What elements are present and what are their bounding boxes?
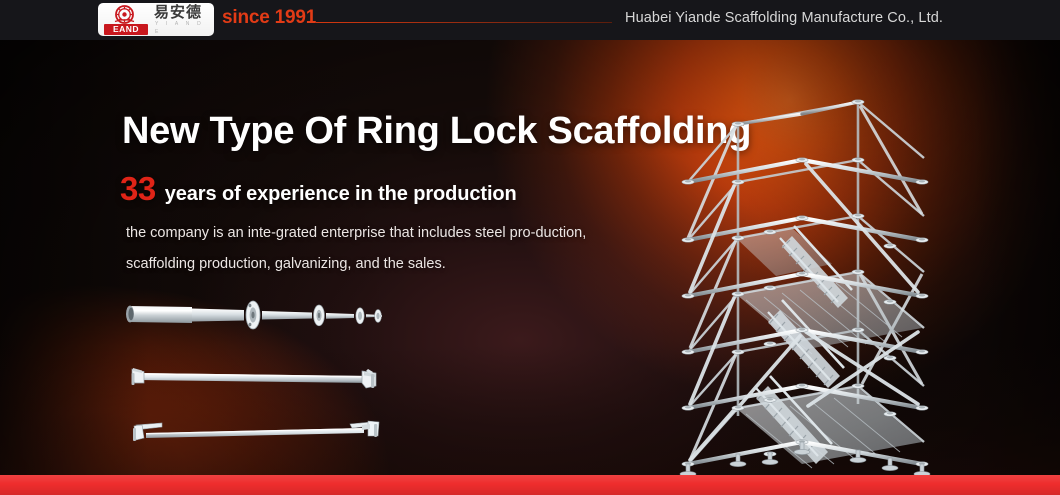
logo-pinyin-text: Y I A N D E (154, 20, 210, 36)
hero-headline: New Type Of Ring Lock Scaffolding (122, 110, 751, 153)
hero-content: New Type Of Ring Lock Scaffolding 33 yea… (0, 0, 1060, 495)
experience-years-text: years of experience in the production (165, 183, 517, 206)
company-name: Huabei Yiande Scaffolding Manufacture Co… (625, 10, 943, 26)
promotional-banner: EAND 易安德 Y I A N D E since 1991 Huabei Y… (0, 0, 1060, 495)
hero-subheadline: 33 years of experience in the production (120, 170, 517, 208)
product-image-ringlock-diagonal-brace (132, 416, 380, 446)
since-label: since 1991 (222, 7, 316, 29)
logo-latin-wordmark: EAND (104, 24, 148, 35)
top-header-bar: EAND 易安德 Y I A N D E since 1991 Huabei Y… (0, 0, 1060, 40)
logo-chinese-wordmark: 易安德 Y I A N D E (149, 4, 210, 36)
header-divider-line (316, 22, 612, 23)
experience-years-number: 33 (120, 170, 156, 208)
product-image-ringlock-ledger (130, 364, 378, 390)
bottom-accent-bar (0, 475, 1060, 495)
bottom-bar-sheen (0, 475, 1060, 495)
gear-emblem-icon (112, 5, 137, 26)
product-image-ringlock-standard (126, 292, 382, 336)
logo-mark: EAND (103, 5, 149, 34)
company-logo[interactable]: EAND 易安德 Y I A N D E (98, 3, 214, 36)
hero-paragraph: the company is an inte-grated enterprise… (126, 218, 596, 280)
logo-chinese-text: 易安德 (154, 4, 210, 20)
scaffolding-tower-image (672, 86, 972, 476)
